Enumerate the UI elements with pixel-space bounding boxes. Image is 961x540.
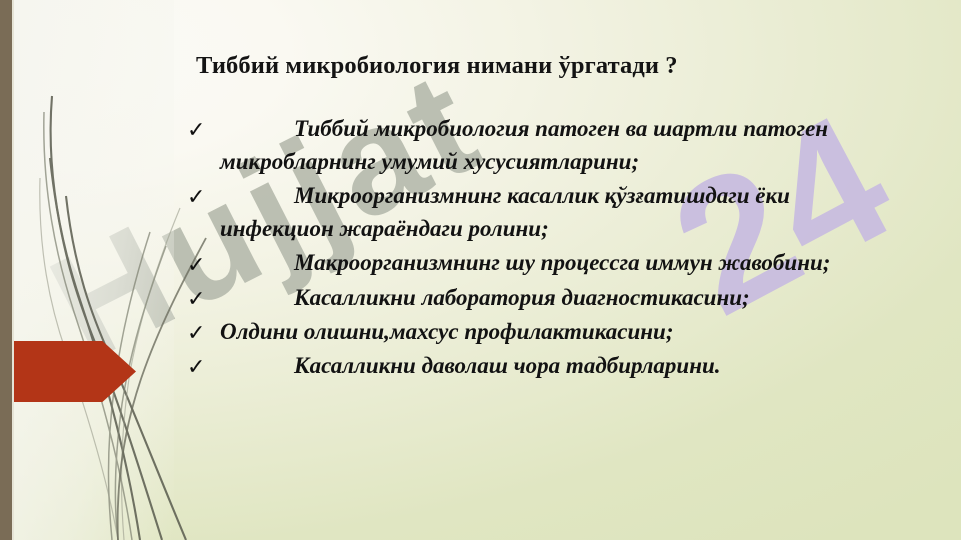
check-icon: ✓	[187, 114, 211, 146]
slide-content: Тиббий микробиология нимани ўргатади ? ✓…	[0, 0, 961, 540]
list-item-label: Касалликни лаборатория диагностикасини;	[294, 285, 750, 310]
list-item: ✓ Макроорганизмнинг шу процессга иммун ж…	[184, 246, 874, 279]
page-title: Тиббий микробиология нимани ўргатади ?	[196, 52, 896, 80]
check-icon: ✓	[187, 181, 211, 213]
bullet-list: ✓ Тиббий микробиология патоген ва шартли…	[184, 112, 874, 383]
check-icon: ✓	[187, 351, 211, 383]
slide-canvas: Hujjat 24	[0, 0, 961, 540]
list-item: ✓ Олдини олишни,махсус профилактикасини;	[184, 315, 874, 348]
list-item-label: Макроорганизмнинг шу процессга иммун жав…	[294, 250, 830, 275]
list-item: ✓ Касалликни лаборатория диагностикасини…	[184, 281, 874, 314]
list-item-label: Касалликни даволаш чора тадбирларини.	[294, 353, 721, 378]
check-icon: ✓	[187, 317, 211, 349]
check-icon: ✓	[187, 249, 211, 281]
list-item: ✓ Тиббий микробиология патоген ва шартли…	[184, 112, 874, 178]
list-item: ✓ Касалликни даволаш чора тадбирларини.	[184, 349, 874, 382]
list-item-label: Тиббий микробиология патоген ва шартли п…	[220, 116, 828, 174]
list-item-label: Микроорганизмнинг касаллик қўзғатишдаги …	[220, 183, 790, 241]
check-icon: ✓	[187, 283, 211, 315]
list-item-label: Олдини олишни,махсус профилактикасини;	[220, 319, 674, 344]
list-item: ✓ Микроорганизмнинг касаллик қўзғатишдаг…	[184, 179, 874, 245]
